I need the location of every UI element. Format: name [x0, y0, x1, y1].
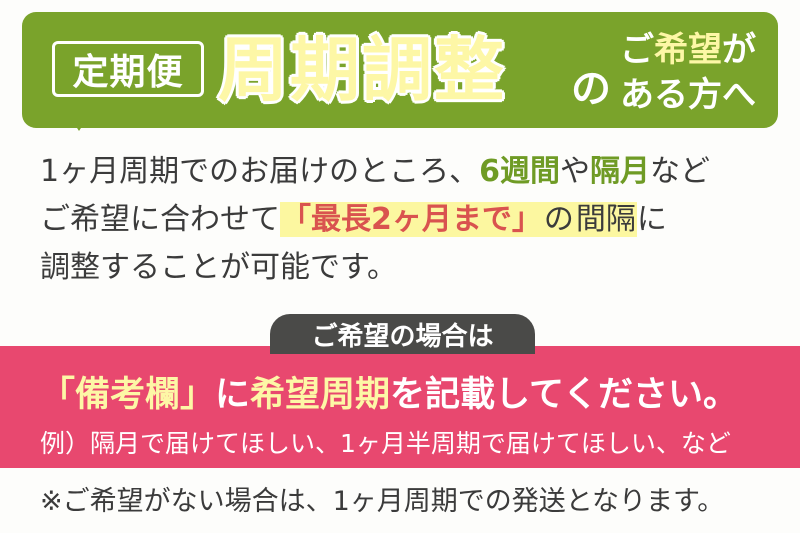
- body-line2-part2: の: [543, 202, 575, 237]
- instruction-headline: 「備考欄」に希望周期を記載してください。: [40, 366, 780, 417]
- headline-particle: の: [571, 56, 611, 114]
- body-paragraph: 1ヶ月周期でのお届けのところ、6週間や隔月など ご希望に合わせて「最長2ヶ月まで…: [40, 148, 770, 292]
- subscription-tag: 定期便: [52, 41, 204, 97]
- body-line2-part3: に: [637, 202, 667, 237]
- footer-note: ※ご希望がない場合は、1ヶ月周期での発送となります。: [40, 479, 780, 518]
- body-line1-part2: や: [560, 154, 590, 189]
- banner-pointer-icon: [68, 114, 90, 131]
- promo-page: 定期便 周期調整 の ご希望が ある方へ 1ヶ月周期でのお届けのところ、6週間や…: [0, 0, 800, 533]
- body-line1-part3: など: [650, 154, 710, 189]
- headline-main: 周期調整: [218, 26, 506, 114]
- instruction-part1: に: [215, 375, 250, 415]
- instruction-field-name: 「備考欄」: [40, 375, 215, 415]
- header-banner-content: 定期便 周期調整 の ご希望が ある方へ: [22, 12, 778, 128]
- instruction-example: 例）隔月で届けてほしい、1ヶ月半周期で届けてほしい、など: [40, 424, 780, 460]
- header-banner: 定期便 周期調整 の ご希望が ある方へ: [22, 12, 778, 128]
- body-line3: 調整することが可能です。: [40, 250, 397, 285]
- body-line1-part1: 1ヶ月周期でのお届けのところ、: [40, 154, 479, 189]
- instruction-desired-cycle: 希望周期: [250, 375, 390, 415]
- headline-sub-emphasis: 希望: [654, 30, 722, 70]
- body-line1-highlight-weeks: 6週間: [479, 154, 560, 189]
- request-ribbon: ご希望の場合は: [270, 314, 535, 354]
- headline-sub-prefix: ご: [620, 30, 654, 70]
- headline-sub-line2: ある方へ: [620, 75, 756, 115]
- instruction-part2: を記載してください。: [390, 375, 738, 415]
- body-line2-part1: ご希望に合わせて: [40, 202, 280, 237]
- body-line2-highlight-maxperiod: 「最長2ヶ月まで」: [280, 202, 543, 237]
- body-line1-highlight-bimonthly: 隔月: [590, 154, 650, 189]
- headline-sub-suffix: が: [722, 30, 756, 70]
- body-line2-highlight-interval: 間隔: [575, 202, 637, 237]
- headline-sub: ご希望が ある方へ: [620, 28, 790, 118]
